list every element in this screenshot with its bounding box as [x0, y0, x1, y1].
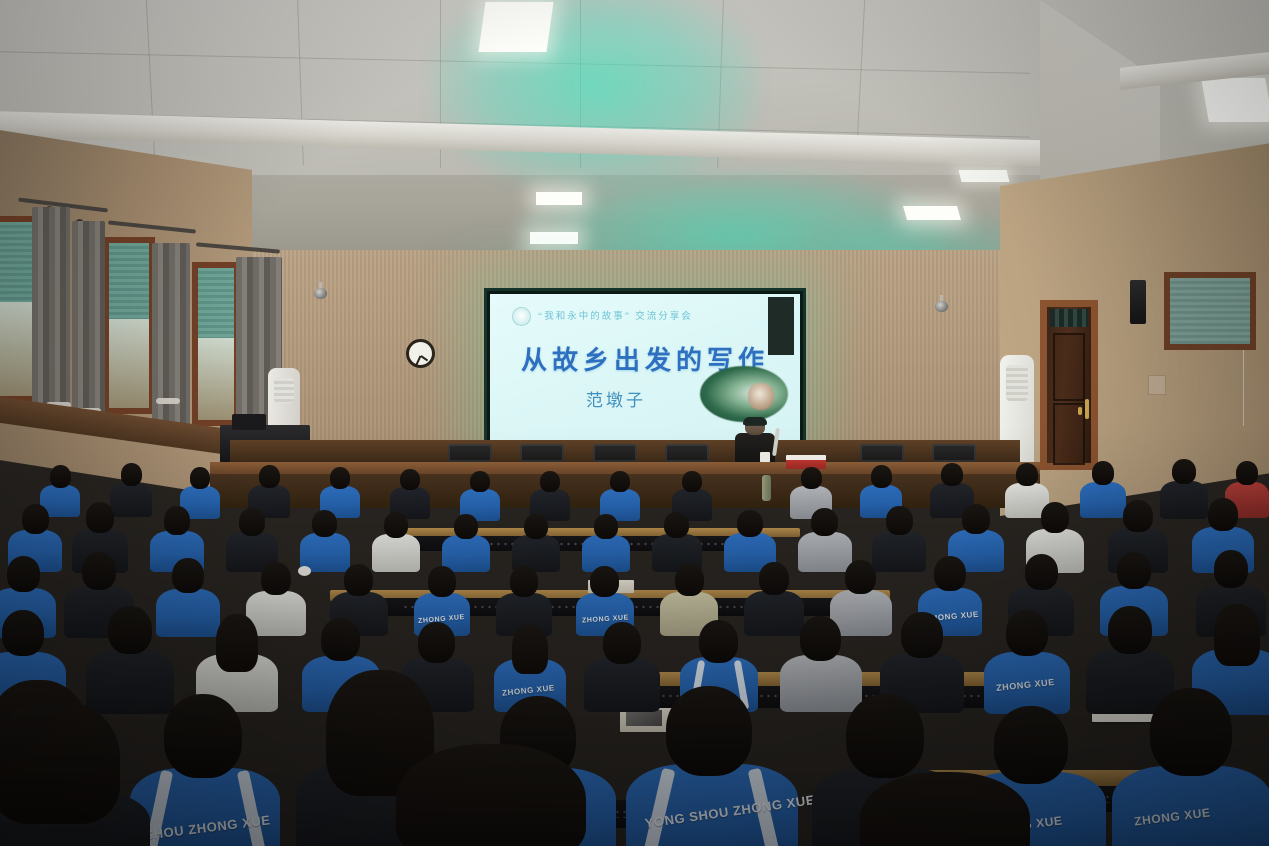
clock-hour-hand [420, 355, 428, 361]
person-head [239, 508, 265, 536]
person-head [801, 467, 822, 489]
window-left-3 [192, 262, 240, 426]
person-head [1041, 502, 1069, 533]
person-head [871, 465, 892, 488]
audience-member: YONG SHOU ZHONG XUE [626, 686, 798, 846]
curtain-tieback [156, 398, 180, 404]
window-left-2 [103, 237, 155, 414]
person-head [1092, 461, 1114, 485]
person-head [428, 566, 456, 597]
audience-member-foreground [860, 772, 1030, 846]
person-head [962, 504, 990, 534]
speaker-cap [743, 417, 767, 425]
hair-tie [298, 566, 311, 576]
security-camera [314, 282, 328, 300]
person-head [82, 552, 116, 590]
person-hair [0, 700, 120, 824]
person-head [759, 562, 789, 595]
person-head [901, 612, 943, 658]
slide-dark-block [768, 297, 794, 355]
person-head [321, 618, 360, 661]
wall-notice-plate [1148, 375, 1166, 395]
person-head [2, 610, 44, 656]
person-head [675, 564, 704, 596]
av-monitor [232, 414, 266, 430]
person-hair [860, 772, 1030, 846]
auditorium-photo: “我和永中的故事” 交流分享会 从故乡出发的写作 范墩子 [0, 0, 1269, 846]
camera-lens-icon [935, 301, 948, 312]
person-head [1117, 552, 1151, 589]
person-head [1025, 554, 1058, 590]
person-head [846, 694, 924, 778]
window-blind [1170, 278, 1250, 344]
person-head [1236, 461, 1258, 485]
person-head [261, 562, 291, 595]
person-head [121, 463, 142, 486]
person-head [845, 560, 876, 594]
audience-row-5: SHOU ZHONG XUE ZHONG XUE YONG SHOU ZHONG… [0, 660, 1269, 846]
person-head [590, 566, 619, 597]
door-handle[interactable] [1085, 399, 1089, 419]
person-head [86, 502, 114, 533]
person-head [50, 465, 71, 488]
security-camera [935, 295, 949, 313]
person-head [330, 467, 350, 489]
person-head [164, 506, 190, 535]
person-head [800, 616, 841, 661]
person-head [1208, 498, 1238, 531]
window-blind [198, 268, 234, 338]
person-head [164, 694, 242, 778]
entry-door[interactable] [1040, 300, 1098, 470]
audience-member: ZHONG XUE [1112, 688, 1269, 846]
person-head [1172, 459, 1196, 484]
curtain-panel [152, 243, 190, 438]
audience-member-foreground [0, 700, 150, 846]
ceiling-light [959, 170, 1010, 182]
person-head [934, 556, 966, 591]
ac-vent [1006, 365, 1028, 402]
person-head [190, 467, 210, 489]
door-transom-glass [1050, 309, 1088, 327]
wall-clock [406, 339, 435, 368]
person-head [108, 606, 152, 654]
window-blind [109, 243, 149, 319]
ceiling-light [530, 232, 578, 244]
person-head [666, 686, 752, 776]
ceiling-light [1201, 78, 1269, 122]
person-head [7, 556, 40, 592]
person-head [664, 512, 689, 538]
person-head [1214, 550, 1248, 588]
person-head [1006, 610, 1048, 656]
person-head [524, 514, 548, 539]
person-head [594, 514, 618, 539]
slide-portrait-photo [700, 366, 788, 422]
person-head [510, 566, 538, 597]
person-head [384, 512, 408, 538]
person-head [811, 508, 838, 536]
person-head [1108, 606, 1152, 654]
school-emblem-icon [512, 307, 531, 326]
person-head [470, 471, 490, 492]
ceiling-light [536, 192, 582, 205]
slide-author-text: 范墩子 [586, 386, 646, 411]
person-head [400, 469, 420, 490]
person-head [737, 510, 763, 537]
person-head [418, 622, 455, 663]
wall-speaker [1130, 280, 1146, 324]
person-head [603, 622, 641, 664]
curtain-panel [72, 221, 105, 426]
person-head [312, 510, 337, 537]
person-head [1123, 500, 1153, 532]
person-head [1150, 688, 1232, 776]
audience-member: SHOU ZHONG XUE [130, 694, 280, 846]
person-body [1112, 766, 1269, 846]
window-right [1164, 272, 1256, 350]
ceiling-light [478, 2, 553, 52]
person-head [344, 564, 373, 596]
person-head [172, 558, 204, 593]
person-hair [1214, 604, 1260, 666]
person-head [22, 504, 49, 534]
blind-cord[interactable] [1243, 350, 1244, 426]
person-head [699, 620, 738, 663]
ac-vent [274, 378, 295, 403]
person-head [610, 471, 630, 492]
person-head [941, 463, 963, 486]
door-panel [1053, 333, 1085, 401]
door-lock[interactable] [1078, 407, 1082, 415]
person-head [454, 514, 478, 539]
person-head [1016, 463, 1038, 486]
person-head [682, 471, 702, 492]
person-head [259, 465, 280, 488]
clock-minute-hand [415, 356, 421, 367]
camera-lens-icon [314, 288, 327, 299]
slide-header-text: “我和永中的故事” 交流分享会 [538, 308, 693, 322]
ceiling-light [903, 206, 961, 220]
person-hair [396, 744, 586, 846]
person-head [886, 506, 913, 535]
curtain-panel [32, 207, 70, 412]
audience-member-foreground [396, 744, 586, 846]
person-head [540, 471, 560, 492]
